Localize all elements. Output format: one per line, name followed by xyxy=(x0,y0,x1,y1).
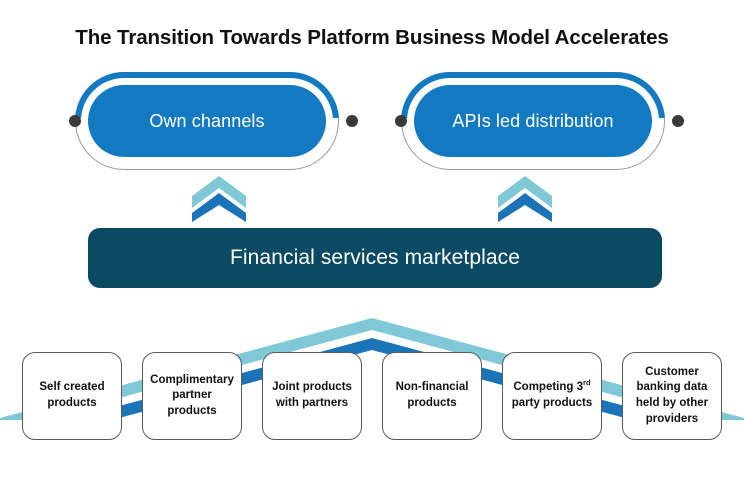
diagram-canvas: The Transition Towards Platform Business… xyxy=(0,0,744,485)
product-label: Complimentarypartner products xyxy=(148,373,236,420)
product-box-non-financial-products[interactable]: Non-financialproducts xyxy=(382,352,482,440)
product-label: Customerbanking dataheld by otherprovide… xyxy=(636,365,708,427)
product-box-joint-products-with-partners[interactable]: Joint productswith partners xyxy=(262,352,362,440)
channel-node-own-channels[interactable]: Own channels xyxy=(62,68,352,176)
page-title: The Transition Towards Platform Business… xyxy=(0,26,744,50)
product-box-competing-3rd-party-products[interactable]: Competing 3rdparty products xyxy=(502,352,602,440)
product-label: Non-financialproducts xyxy=(396,380,469,411)
marketplace-label: Financial services marketplace xyxy=(230,246,520,270)
product-label: Competing 3rdparty products xyxy=(512,380,593,411)
channel-label-own-channels: Own channels xyxy=(149,111,264,132)
product-box-row: Self createdproducts Complimentarypartne… xyxy=(0,352,744,442)
pill-core: APIs led distribution xyxy=(414,85,652,157)
pill-core: Own channels xyxy=(88,85,326,157)
pill-connector-dot-left-icon xyxy=(395,115,407,127)
pill-connector-dot-right-icon xyxy=(672,115,684,127)
product-label: Self createdproducts xyxy=(39,380,104,411)
marketplace-bar[interactable]: Financial services marketplace xyxy=(88,228,662,288)
chevron-up-arrow-right xyxy=(498,176,552,222)
product-box-customer-banking-data[interactable]: Customerbanking dataheld by otherprovide… xyxy=(622,352,722,440)
product-box-self-created-products[interactable]: Self createdproducts xyxy=(22,352,122,440)
product-label: Joint productswith partners xyxy=(272,380,352,411)
channel-node-apis-led-distribution[interactable]: APIs led distribution xyxy=(388,68,678,176)
channel-label-apis-led-distribution: APIs led distribution xyxy=(452,111,613,132)
chevron-up-arrow-left xyxy=(192,176,246,222)
product-box-complimentary-partner-products[interactable]: Complimentarypartner products xyxy=(142,352,242,440)
pill-connector-dot-right-icon xyxy=(346,115,358,127)
pill-connector-dot-left-icon xyxy=(69,115,81,127)
